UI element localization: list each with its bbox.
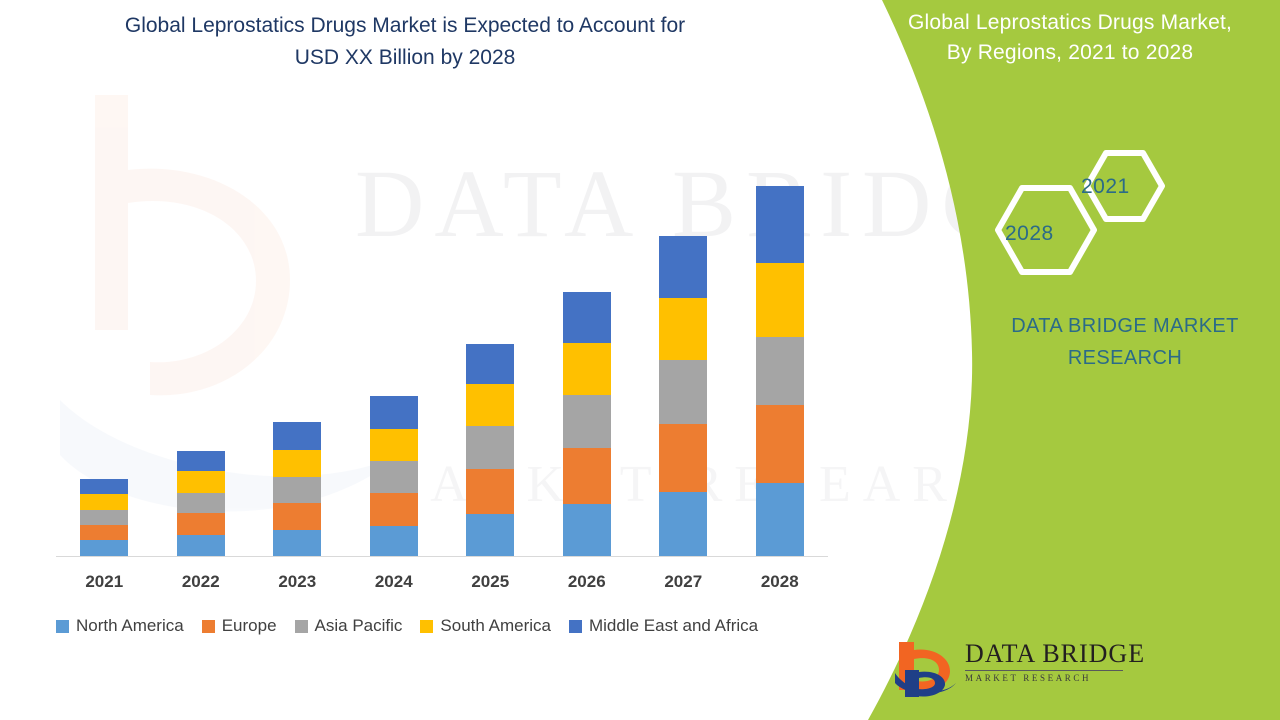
bar-segment-2022-north-america[interactable] [177,535,225,556]
bar-segment-2021-middle-east-and-africa[interactable] [80,479,128,494]
bar-segment-2021-asia-pacific[interactable] [80,510,128,525]
bar-segment-2023-north-america[interactable] [273,530,321,556]
bar-segment-2026-europe[interactable] [563,448,611,504]
bar-segment-2022-middle-east-and-africa[interactable] [177,451,225,471]
bar-segment-2025-north-america[interactable] [466,514,514,556]
legend-swatch-icon [420,620,433,633]
logo-subtitle: MARKET RESEARCH [965,673,1125,683]
panel-title-line-1: Global Leprostatics Drugs Market, [860,8,1280,38]
bar-segment-2028-north-america[interactable] [756,483,804,556]
legend-item-north-america[interactable]: North America [56,616,184,636]
bar-segment-2023-europe[interactable] [273,503,321,530]
panel-brand-line-2: RESEARCH [975,342,1275,374]
bar-segment-2026-south-america[interactable] [563,343,611,395]
legend-label: Europe [222,616,277,636]
x-axis-label-2025: 2025 [450,572,530,592]
bar-2025[interactable] [466,344,514,556]
legend-label: South America [440,616,551,636]
logo-mark [893,640,959,698]
legend-item-middle-east-and-africa[interactable]: Middle East and Africa [569,616,758,636]
logo-b-swoosh-icon [893,640,959,698]
bar-segment-2028-south-america[interactable] [756,263,804,337]
bar-segment-2025-south-america[interactable] [466,384,514,426]
x-axis-label-2026: 2026 [547,572,627,592]
legend-item-south-america[interactable]: South America [420,616,551,636]
market-infographic: DATA BRIDGE MARKET RESEARCH Global Lepro… [0,0,1280,720]
legend-label: North America [76,616,184,636]
bar-segment-2025-middle-east-and-africa[interactable] [466,344,514,384]
x-axis-label-2028: 2028 [740,572,820,592]
bar-2022[interactable] [177,451,225,556]
bar-segment-2027-europe[interactable] [659,424,707,492]
bar-segment-2023-south-america[interactable] [273,450,321,477]
bar-segment-2022-asia-pacific[interactable] [177,493,225,513]
legend-label: Middle East and Africa [589,616,758,636]
panel-brand-text: DATA BRIDGE MARKET RESEARCH [975,310,1275,374]
bar-segment-2025-europe[interactable] [466,469,514,514]
legend-item-asia-pacific[interactable]: Asia Pacific [295,616,403,636]
legend-label: Asia Pacific [315,616,403,636]
logo-text: DATA BRIDGE MARKET RESEARCH [965,640,1125,683]
bar-segment-2024-north-america[interactable] [370,526,418,556]
panel-title-line-2: By Regions, 2021 to 2028 [860,38,1280,68]
hex-2028-label: 2028 [1005,222,1054,246]
bar-2027[interactable] [659,236,707,556]
x-axis-label-2024: 2024 [354,572,434,592]
bar-segment-2023-middle-east-and-africa[interactable] [273,422,321,450]
bar-segment-2026-asia-pacific[interactable] [563,395,611,448]
bar-segment-2028-middle-east-and-africa[interactable] [756,186,804,263]
legend-swatch-icon [295,620,308,633]
chart-legend: North AmericaEuropeAsia PacificSouth Ame… [56,616,836,636]
bar-segment-2021-north-america[interactable] [80,540,128,556]
hexagon-outline-icon [980,140,1200,290]
hex-2021-label: 2021 [1081,175,1130,199]
x-axis-labels: 20212022202320242025202620272028 [56,572,828,598]
x-axis-label-2023: 2023 [257,572,337,592]
bar-segment-2026-middle-east-and-africa[interactable] [563,292,611,343]
bar-segment-2024-south-america[interactable] [370,429,418,461]
bar-segment-2022-south-america[interactable] [177,471,225,493]
bar-segment-2028-asia-pacific[interactable] [756,337,804,405]
x-axis-label-2021: 2021 [64,572,144,592]
hexagon-badges: 2021 2028 [980,140,1200,290]
bar-2021[interactable] [80,479,128,556]
legend-swatch-icon [202,620,215,633]
bar-segment-2027-south-america[interactable] [659,298,707,360]
logo-divider [965,670,1123,671]
bar-2026[interactable] [563,292,611,556]
bar-2023[interactable] [273,422,321,556]
bar-segment-2028-europe[interactable] [756,405,804,483]
bar-chart-plot: 20212022202320242025202620272028 [0,0,840,720]
logo-title: DATA BRIDGE [965,640,1125,668]
bar-segment-2027-asia-pacific[interactable] [659,360,707,424]
bar-segment-2022-europe[interactable] [177,513,225,535]
bar-segment-2025-asia-pacific[interactable] [466,426,514,469]
bar-segment-2023-asia-pacific[interactable] [273,477,321,503]
bar-segment-2026-north-america[interactable] [563,504,611,556]
legend-item-europe[interactable]: Europe [202,616,277,636]
bar-segment-2027-middle-east-and-africa[interactable] [659,236,707,298]
bar-segment-2024-middle-east-and-africa[interactable] [370,396,418,429]
bar-segment-2024-europe[interactable] [370,493,418,526]
bar-2024[interactable] [370,396,418,556]
x-axis-label-2022: 2022 [161,572,241,592]
bar-segment-2021-europe[interactable] [80,525,128,540]
bar-segment-2027-north-america[interactable] [659,492,707,556]
data-bridge-logo: DATA BRIDGE MARKET RESEARCH [893,638,1123,700]
panel-title: Global Leprostatics Drugs Market, By Reg… [860,8,1280,68]
x-axis-label-2027: 2027 [643,572,723,592]
bar-segment-2021-south-america[interactable] [80,494,128,510]
bar-segment-2024-asia-pacific[interactable] [370,461,418,493]
legend-swatch-icon [56,620,69,633]
legend-swatch-icon [569,620,582,633]
bar-2028[interactable] [756,186,804,556]
x-axis-line [56,556,828,557]
panel-brand-line-1: DATA BRIDGE MARKET [975,310,1275,342]
